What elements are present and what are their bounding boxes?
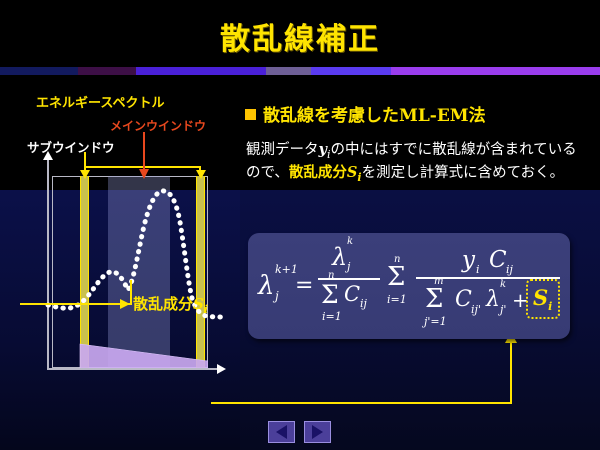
label-main-window: メインウインドウ <box>110 117 206 134</box>
formula-sum2-bottom: i=1 <box>387 293 407 306</box>
formula-frac2-num-c-subscript: ij <box>506 263 513 276</box>
formula-equals: = <box>295 273 313 298</box>
energy-spectrum-diagram: エネルギースペクトル メインウインドウ サブウインドウ <box>0 90 245 420</box>
formula-lhs-lambda: λ <box>258 271 274 301</box>
formula-frac2-den-c-subscript: ij' <box>471 303 481 316</box>
label-energy-spectrum: エネルギースペクトル <box>36 92 164 111</box>
body-paragraph: 観測データyiの中にはすでに散乱線が含まれているので、散乱成分Siを測定し計算式… <box>246 140 586 185</box>
body-line1-a: 観測データ <box>246 142 319 158</box>
formula-frac1-den-c-subscript: ij <box>360 297 367 310</box>
formula-frac2-den-lambda-subscript: j' <box>500 303 506 316</box>
triangle-left-icon <box>276 425 287 439</box>
formula-frac2-num-y: y <box>462 247 475 273</box>
bullet-square-icon <box>245 109 256 120</box>
navigation-bar[interactable] <box>268 421 332 445</box>
body-line3: おく。 <box>521 165 565 181</box>
formula-scatter-term-s: S <box>533 285 548 310</box>
segment-magenta <box>391 67 600 75</box>
triangle-right-icon <box>312 425 323 439</box>
label-scatter-prefix: 散乱成分 <box>133 295 193 313</box>
formula-frac2-den-c: C <box>455 287 472 312</box>
spectrum-curve <box>40 170 230 375</box>
previous-slide-button[interactable] <box>268 421 295 443</box>
decorative-color-rule <box>0 67 600 75</box>
formula-frac1-num-lambda: λ <box>332 243 347 271</box>
next-slide-button[interactable] <box>304 421 331 443</box>
segment-maroon <box>78 67 136 75</box>
formula-frac1-num-subscript: j <box>347 260 350 273</box>
section-heading: 散乱線を考慮したML-EM法 <box>245 101 486 126</box>
formula-frac1-den-bottom: i=1 <box>322 310 342 323</box>
body-highlight-scatter: 散乱成分 <box>289 164 347 181</box>
segment-royal-blue <box>311 67 391 75</box>
main-window-arrow-icon <box>139 169 149 179</box>
formula-scatter-term-subscript: i <box>548 300 552 313</box>
formula-frac2-num-y-subscript: i <box>476 263 480 276</box>
formula-scatter-term: Si <box>533 285 552 313</box>
sub-window-arrow-right-icon <box>196 170 206 179</box>
label-sub-window: サブウインドウ <box>27 137 115 156</box>
scatter-callout-arrow-icon <box>120 299 130 309</box>
formula-frac1-den-sigma: Σ <box>321 280 339 309</box>
formula-sum2-sigma: Σ <box>387 262 405 292</box>
segment-navy <box>0 67 78 75</box>
ml-em-formula: λ j k+1 = λ j k n Σ i=1 C ij n Σ i=1 y i… <box>248 233 570 339</box>
formula-frac2-den-bottom: j'=1 <box>424 315 447 328</box>
body-line1-b: の中にはすでに散乱線が含まれて <box>330 142 547 158</box>
formula-frac1-num-superscript: k <box>347 236 353 247</box>
formula-box: λ j k+1 = λ j k n Σ i=1 C ij n Σ i=1 y i… <box>248 233 570 339</box>
body-variable-y: y <box>319 141 327 158</box>
scatter-callout-line <box>20 303 132 305</box>
label-scatter-component: 散乱成分Si <box>133 293 208 316</box>
sub-window-leader-line <box>84 152 86 168</box>
formula-frac2-den-sigma: Σ <box>425 284 443 314</box>
segment-blue-violet <box>136 67 266 75</box>
formula-frac2-den-lambda-superscript: k <box>500 279 506 290</box>
slide-canvas: 散乱線補正 エネルギースペクトル メインウインドウ サブウインドウ <box>0 0 600 450</box>
formula-frac2-num-c: C <box>489 247 507 273</box>
section-heading-text: 散乱線を考慮したML-EM法 <box>263 106 486 126</box>
body-line2-b: を測定し計算式に含めて <box>362 165 521 181</box>
y-axis-arrow-icon <box>43 151 53 160</box>
slide-title: 散乱線補正 <box>0 14 600 58</box>
formula-lhs-subscript: j <box>275 289 279 303</box>
segment-gray-purple <box>266 67 311 75</box>
formula-connector-vertical <box>510 342 512 404</box>
label-scatter-variable: S <box>193 295 204 313</box>
formula-frac1-den-c: C <box>344 282 360 306</box>
main-window-leader-line <box>143 132 145 172</box>
formula-frac2-den-lambda: λ <box>486 287 500 312</box>
scatter-callout-stem <box>130 280 132 304</box>
formula-connector-horizontal <box>211 402 512 404</box>
sub-window-arrow-left-icon <box>80 170 90 179</box>
label-scatter-subscript: i <box>204 303 208 316</box>
body-highlight-variable-s: S <box>347 164 357 181</box>
